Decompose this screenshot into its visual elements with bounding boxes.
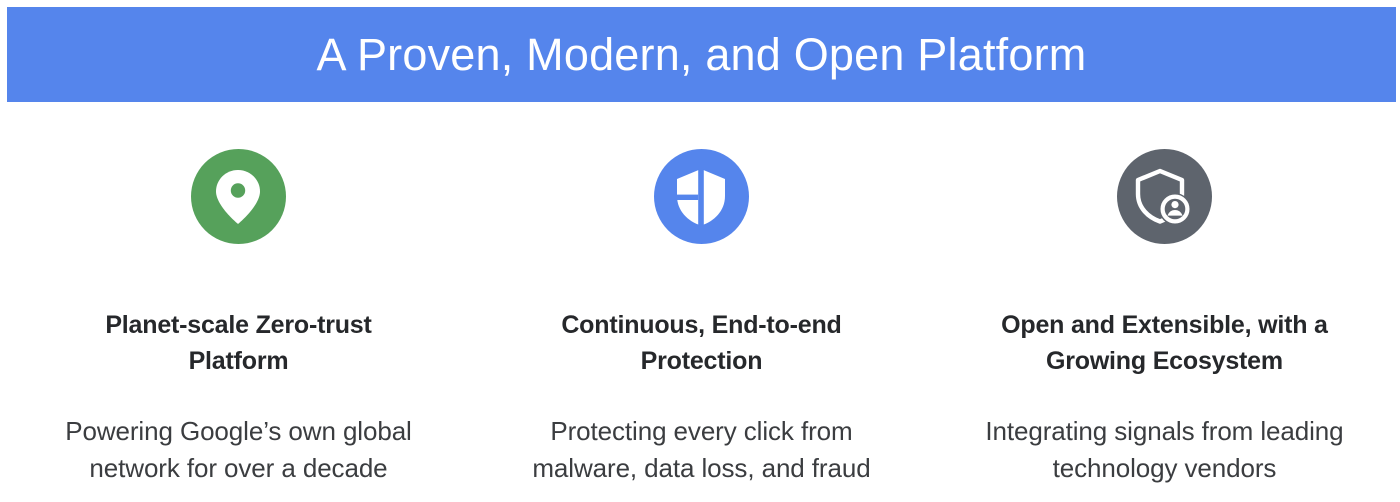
feature-heading-1: Planet-scale Zero-trust Platform [58, 308, 418, 379]
location-pin-icon [191, 149, 286, 244]
feature-heading-3: Open and Extensible, with a Growing Ecos… [984, 308, 1344, 379]
shield-quadrant-icon [654, 149, 749, 244]
feature-body-2: Protecting every click from malware, dat… [501, 413, 901, 488]
feature-column-2: Continuous, End-to-end Protection Protec… [470, 118, 933, 488]
feature-column-3: Open and Extensible, with a Growing Ecos… [933, 118, 1396, 488]
feature-body-1: Powering Google’s own global network for… [38, 413, 438, 488]
page-title: A Proven, Modern, and Open Platform [317, 30, 1087, 80]
shield-user-icon [1117, 149, 1212, 244]
slide: A Proven, Modern, and Open Platform Plan… [0, 0, 1400, 502]
feature-heading-2: Continuous, End-to-end Protection [521, 308, 881, 379]
feature-body-3: Integrating signals from leading technol… [964, 413, 1364, 488]
header-banner: A Proven, Modern, and Open Platform [7, 7, 1396, 102]
feature-column-1: Planet-scale Zero-trust Platform Powerin… [7, 118, 470, 488]
feature-columns: Planet-scale Zero-trust Platform Powerin… [7, 118, 1396, 502]
